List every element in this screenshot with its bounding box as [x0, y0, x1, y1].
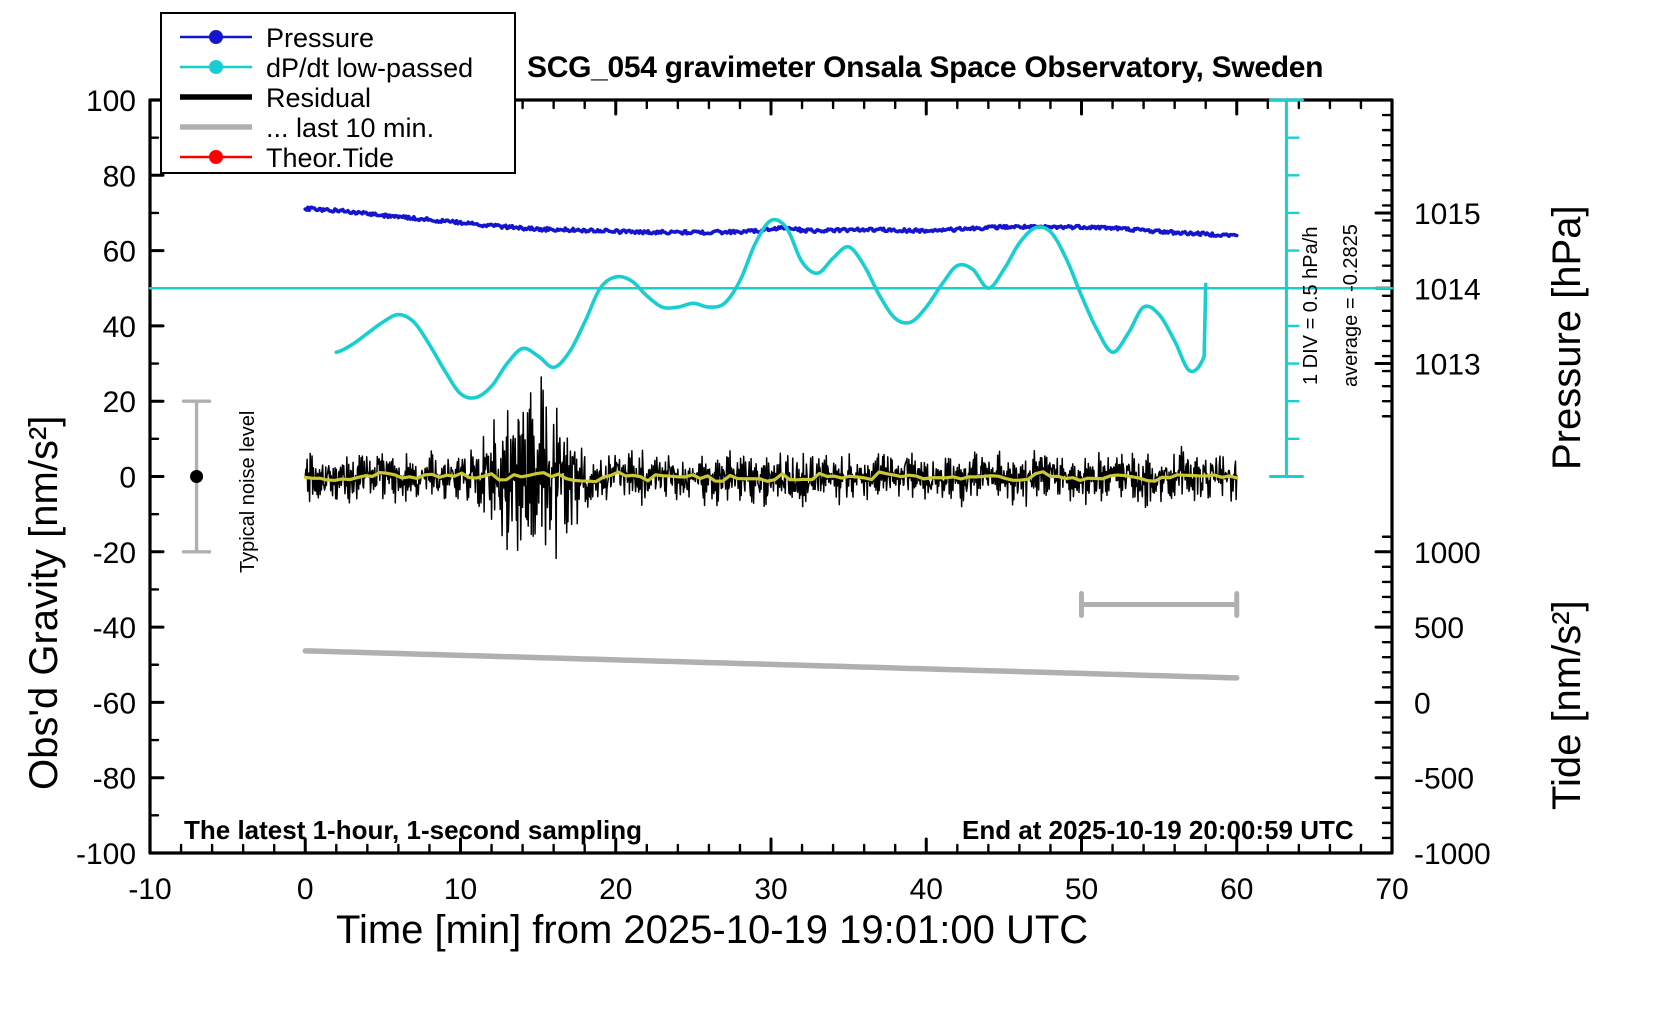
legend-item-last-10-min[interactable]: ... last 10 min. [180, 113, 434, 143]
legend-marker-dot [209, 60, 223, 74]
y-tick-label: -100 [76, 838, 136, 871]
y-axis-right-tide-title: Tide [nm/s²] [1545, 600, 1590, 810]
y-axis-right-pressure-title: Pressure [hPa] [1545, 205, 1590, 470]
legend-label: Pressure [266, 23, 374, 53]
pressure-tick-label: 1013 [1414, 349, 1481, 382]
x-tick-label: 50 [1065, 873, 1098, 906]
y-tick-label: -40 [93, 612, 136, 645]
y-tick-label: 0 [119, 462, 136, 495]
x-tick-label: 30 [754, 873, 787, 906]
x-tick-label: 40 [910, 873, 943, 906]
legend-marker-dot [209, 150, 223, 164]
legend-item-dp-dt-low-passed[interactable]: dP/dt low-passed [180, 53, 473, 83]
legend-items: PressuredP/dt low-passedResidual... last… [162, 14, 510, 168]
legend-label: Theor.Tide [266, 143, 394, 168]
y-tick-label: 80 [103, 160, 136, 193]
legend-marker-dot [209, 30, 223, 44]
legend-label: ... last 10 min. [266, 113, 434, 143]
legend-canvas: PressuredP/dt low-passedResidual... last… [162, 14, 510, 168]
dpdt-average-label: average = -0.2825 [1340, 224, 1363, 387]
y-tick-label: -60 [93, 687, 136, 720]
dpdt-scale-label: 1 DIV = 0.5 hPa/h [1300, 227, 1323, 385]
x-axis-title: Time [min] from 2025-10-19 19:01:00 UTC [336, 908, 1088, 953]
series-dpdt [336, 220, 1205, 398]
series-residual [305, 377, 1237, 558]
x-tick-label: 0 [297, 873, 314, 906]
page-title: SCG_054 gravimeter Onsala Space Observat… [527, 51, 1323, 85]
tide-tick-label: 0 [1414, 687, 1431, 720]
y-tick-label: 20 [103, 386, 136, 419]
tide-tick-label: -500 [1414, 763, 1474, 796]
y-tick-label: 60 [103, 236, 136, 269]
legend-item-residual[interactable]: Residual [180, 83, 371, 113]
y-tick-label: -20 [93, 537, 136, 570]
legend-label: dP/dt low-passed [266, 53, 473, 83]
legend-item-pressure[interactable]: Pressure [180, 23, 374, 53]
series-theor-tide [305, 651, 1237, 678]
x-tick-label: 20 [599, 873, 632, 906]
y-tick-label: 100 [86, 85, 136, 118]
typical-noise-level-label: Typical noise level [237, 411, 260, 573]
x-tick-label: 10 [444, 873, 477, 906]
legend-item-theor-tide[interactable]: Theor.Tide [180, 143, 394, 168]
tide-tick-label: 500 [1414, 612, 1464, 645]
noise-level-dot [190, 470, 203, 483]
sampling-note: The latest 1-hour, 1-second sampling [184, 815, 642, 846]
pressure-tick-label: 1014 [1414, 273, 1481, 306]
legend-label: Residual [266, 83, 371, 113]
y-tick-label: 40 [103, 311, 136, 344]
y-axis-left-title: Obs'd Gravity [nm/s²] [22, 416, 67, 790]
tide-tick-label: 1000 [1414, 537, 1481, 570]
end-time-note: End at 2025-10-19 20:00:59 UTC [962, 815, 1354, 846]
y-tick-label: -80 [93, 763, 136, 796]
pressure-tick-label: 1015 [1414, 198, 1481, 231]
x-tick-label: 70 [1375, 873, 1408, 906]
x-tick-label: 60 [1220, 873, 1253, 906]
x-tick-label: -10 [128, 873, 171, 906]
tide-tick-label: -1000 [1414, 838, 1491, 871]
